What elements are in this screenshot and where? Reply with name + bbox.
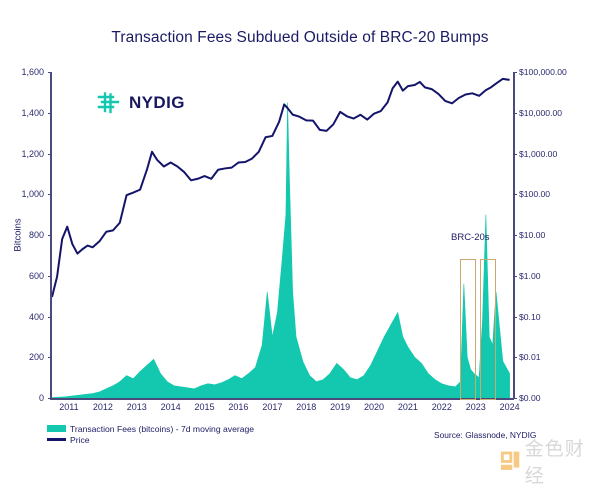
x-axis-tick: 2018 bbox=[296, 402, 316, 412]
left-axis-tick: 600 bbox=[0, 271, 44, 281]
x-axis-tick: 2019 bbox=[330, 402, 350, 412]
right-axis-line bbox=[513, 72, 515, 398]
x-axis-tick: 2017 bbox=[262, 402, 282, 412]
chart-title: Transaction Fees Subdued Outside of BRC-… bbox=[0, 29, 600, 47]
x-axis-tick: 2020 bbox=[364, 402, 384, 412]
plot-area: Bitcoins Bitcoin Price ($ Log Scale) bbox=[52, 72, 513, 398]
legend-item-fees: Transaction Fees (bitcoins) - 7d moving … bbox=[47, 423, 254, 434]
bottom-axis-line bbox=[50, 398, 514, 400]
right-axis-tick: $0.10 bbox=[519, 312, 541, 322]
legend-swatch-price-icon bbox=[47, 438, 66, 441]
brc20-annotation-label: BRC-20s bbox=[451, 232, 490, 243]
left-axis-tick: 400 bbox=[0, 312, 44, 322]
right-axis-tick: $10,000.00 bbox=[519, 108, 562, 118]
x-axis-tick: 2024 bbox=[500, 402, 520, 412]
left-axis-line bbox=[50, 72, 52, 398]
legend-swatch-fees-icon bbox=[47, 425, 66, 432]
left-axis-tick: 200 bbox=[0, 352, 44, 362]
legend-item-price: Price bbox=[47, 434, 254, 445]
x-axis-tick: 2014 bbox=[161, 402, 181, 412]
watermark-text: 金色财经 bbox=[525, 434, 600, 488]
brc20-highlight-box bbox=[480, 259, 497, 400]
right-axis-tick: $0.01 bbox=[519, 352, 541, 362]
x-axis-tick: 2012 bbox=[93, 402, 113, 412]
left-axis-tick: 1,400 bbox=[0, 108, 44, 118]
x-axis-tick-labels: 2011201220132014201520162017201820192020… bbox=[0, 402, 600, 418]
legend-label-price: Price bbox=[70, 435, 90, 445]
chart-legend: Transaction Fees (bitcoins) - 7d moving … bbox=[47, 423, 254, 445]
brc20-highlight-box bbox=[460, 259, 476, 400]
x-axis-tick: 2021 bbox=[398, 402, 418, 412]
left-axis-tick: 1,000 bbox=[0, 189, 44, 199]
x-axis-tick: 2015 bbox=[195, 402, 215, 412]
left-axis-tick: 1,600 bbox=[0, 67, 44, 77]
x-axis-tick: 2022 bbox=[432, 402, 452, 412]
series-canvas bbox=[52, 72, 513, 398]
left-axis-title: Bitcoins bbox=[13, 218, 24, 251]
watermark: 金色财经 bbox=[500, 434, 600, 488]
right-axis-tick: $100,000.00 bbox=[519, 67, 567, 77]
right-axis-tick: $100.00 bbox=[519, 189, 550, 199]
transaction-fees-area bbox=[52, 103, 510, 398]
right-axis-tick: $10.00 bbox=[519, 230, 545, 240]
price-line bbox=[52, 79, 510, 297]
right-axis-tick: $1,000.00 bbox=[519, 149, 557, 159]
left-axis-tick: 1,200 bbox=[0, 149, 44, 159]
x-axis-tick: 2016 bbox=[228, 402, 248, 412]
x-axis-tick: 2013 bbox=[127, 402, 147, 412]
chart-container: Transaction Fees Subdued Outside of BRC-… bbox=[0, 0, 600, 464]
legend-label-fees: Transaction Fees (bitcoins) - 7d moving … bbox=[70, 424, 254, 434]
x-axis-tick: 2023 bbox=[466, 402, 486, 412]
x-axis-tick: 2011 bbox=[59, 402, 78, 412]
right-axis-tick: $1.00 bbox=[519, 271, 541, 281]
jinse-finance-logo-icon bbox=[500, 450, 521, 472]
